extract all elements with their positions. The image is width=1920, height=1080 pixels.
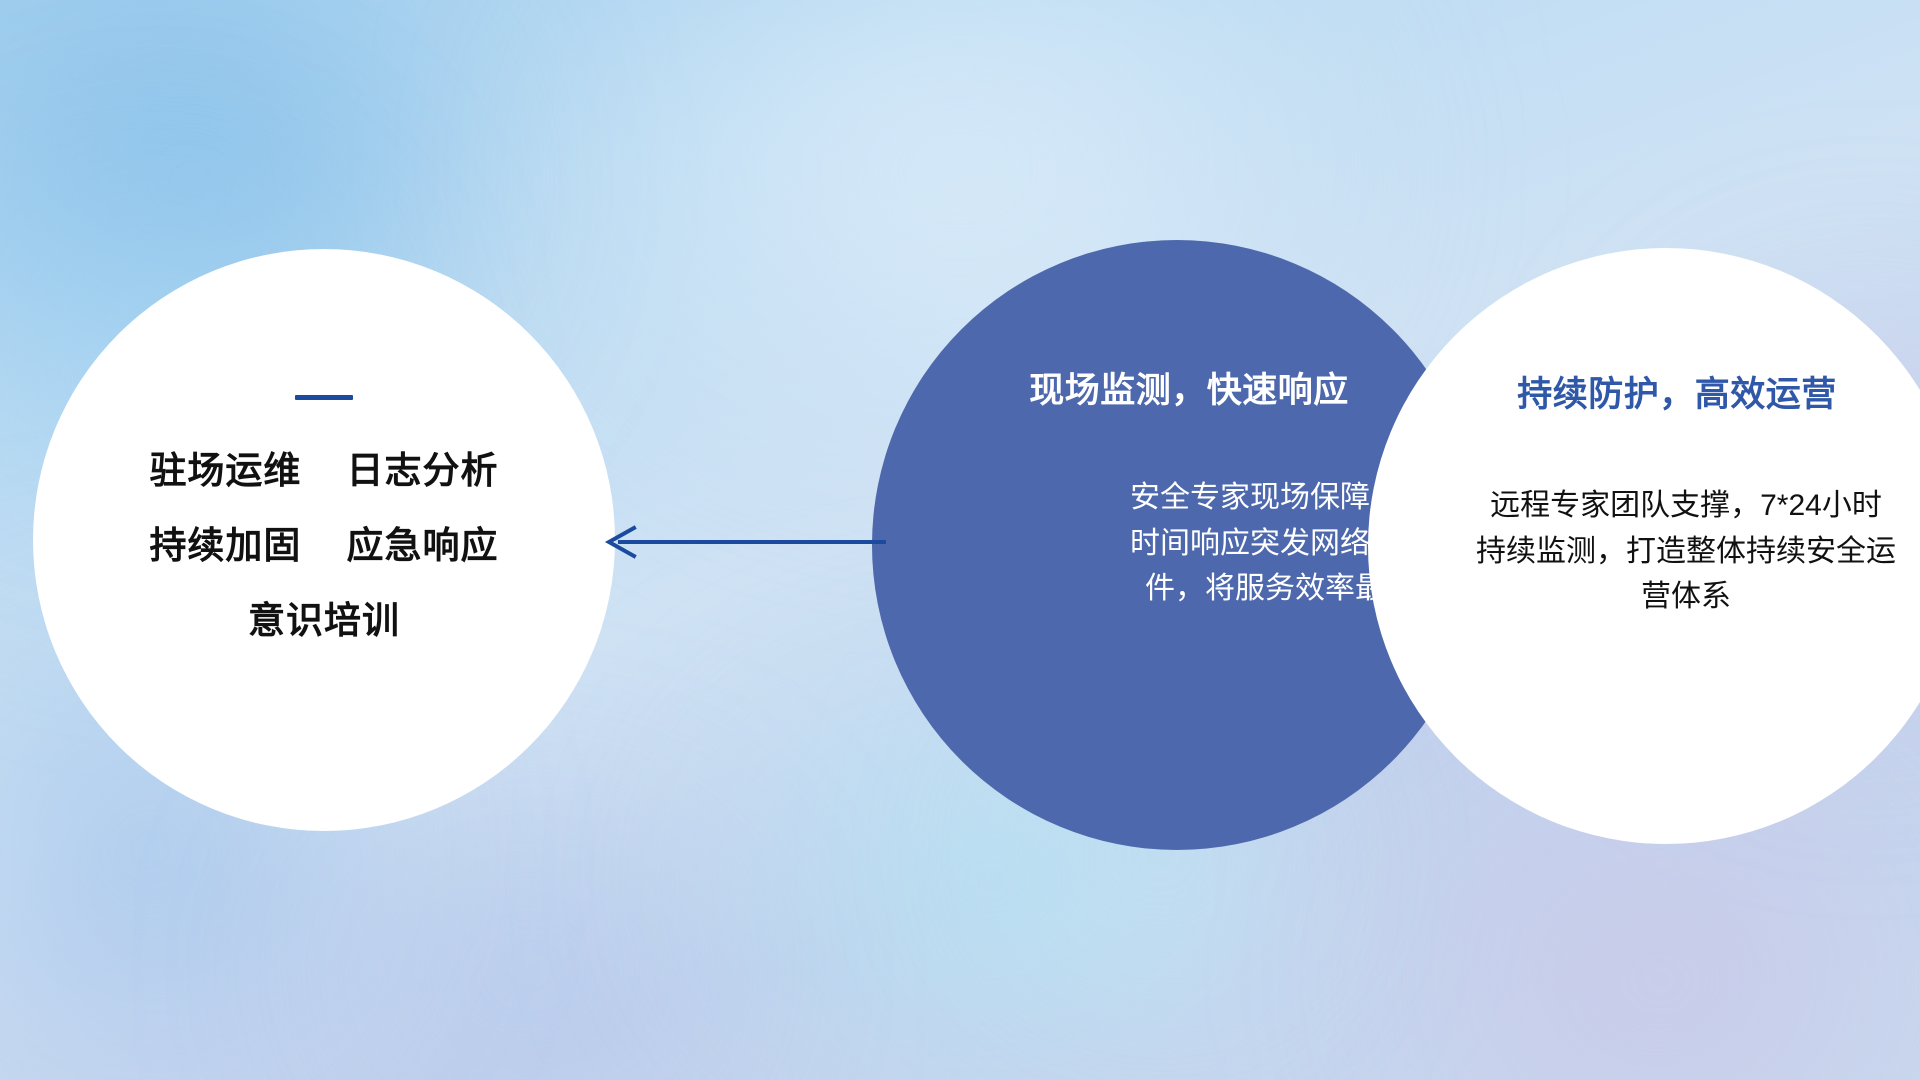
right-circle-body: 远程专家团队支撑，7*24小时持续监测，打造整体持续安全运营体系 — [1476, 483, 1896, 620]
flow-arrow-left-icon — [596, 516, 886, 568]
accent-dash-icon — [295, 395, 353, 400]
center-circle-title: 现场监测，快速响应 — [1029, 362, 1349, 413]
right-white-circle[interactable]: 持续防护，高效运营 远程专家团队支撑，7*24小时持续监测，打造整体持续安全运营… — [1368, 248, 1920, 844]
right-circle-title: 持续防护，高效运营 — [1448, 366, 1906, 417]
right-circle-content: 持续防护，高效运营 远程专家团队支撑，7*24小时持续监测，打造整体持续安全运营… — [1368, 248, 1920, 844]
left-circle-content: 驻场运维 日志分析 持续加固 应急响应 意识培训 — [33, 249, 615, 831]
left-circle-keyword-line-3: 意识培训 — [248, 602, 400, 639]
left-circle-keyword-line-2: 持续加固 应急响应 — [149, 527, 498, 564]
left-circle-keyword-line-1: 驻场运维 日志分析 — [149, 452, 498, 489]
left-white-circle[interactable]: 驻场运维 日志分析 持续加固 应急响应 意识培训 — [33, 249, 615, 831]
slide-canvas: 现场监测，快速响应 安全专家现场保障，最短时间响应突发网络安全事件，将服务效率最… — [0, 0, 1920, 1080]
